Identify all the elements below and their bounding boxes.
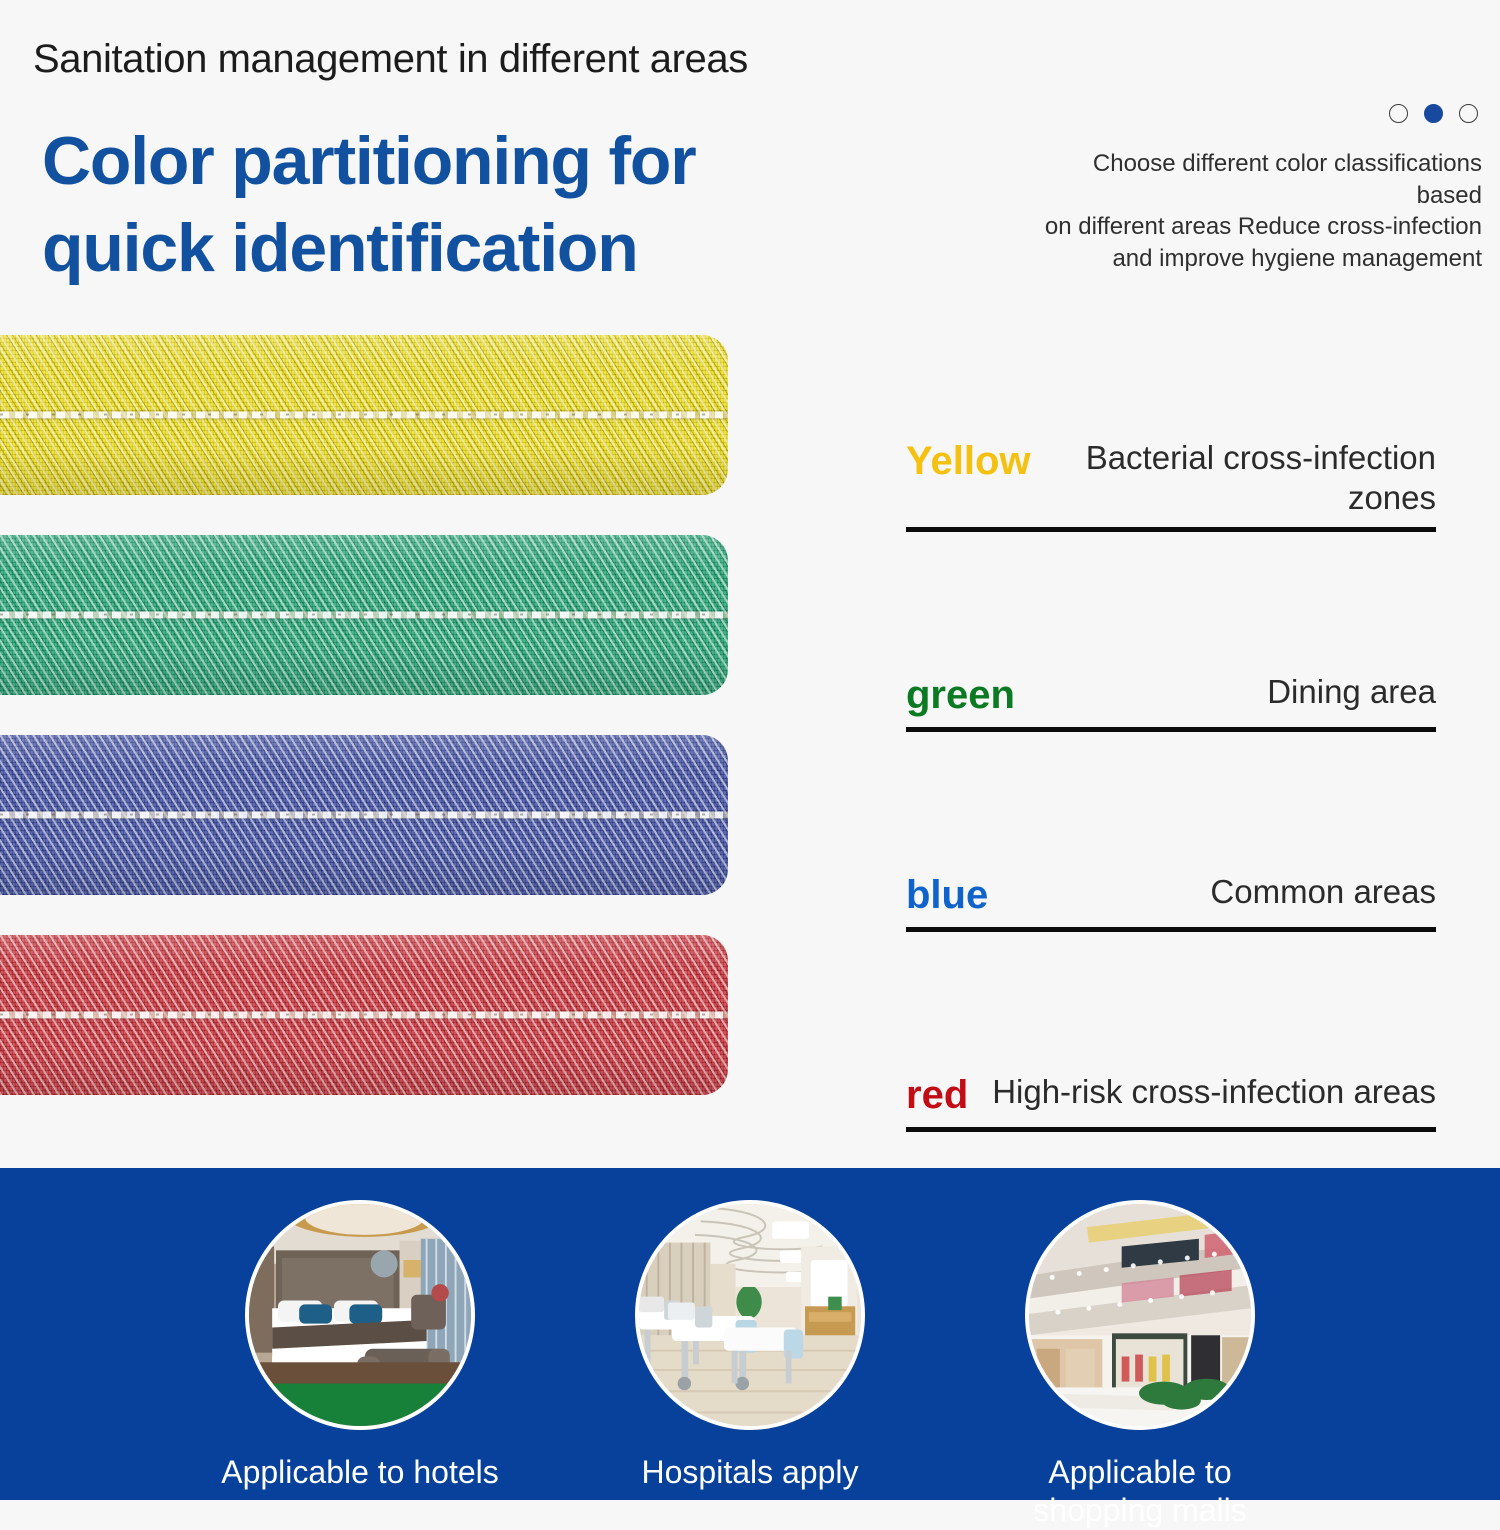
description-line-2: on different areas Reduce cross-infectio…	[1037, 211, 1482, 243]
legend-description: Dining area	[1029, 672, 1436, 712]
headline-line-2: quick identification	[42, 205, 872, 292]
legend-divider	[906, 727, 1436, 732]
legend-divider	[906, 927, 1436, 932]
stitch-seam	[0, 1012, 728, 1019]
legend-color-name: blue	[906, 872, 988, 918]
legend-description: Common areas	[1002, 872, 1436, 912]
stitch-seam	[0, 812, 728, 819]
green-fabric-bar	[0, 535, 728, 695]
caption-line-2: shopping malls	[1033, 1492, 1246, 1530]
caption-line-1: Hospitals apply	[642, 1454, 859, 1492]
card-caption: Applicable to shopping malls	[1033, 1454, 1246, 1530]
legend-description: Bacterial cross-infection zones	[1045, 438, 1437, 519]
caption-line-1: Applicable to	[1033, 1454, 1246, 1492]
fabric-swatch-list	[0, 335, 730, 1135]
hospital-ward-photo	[635, 1200, 865, 1430]
legend-color-name: Yellow	[906, 438, 1031, 484]
poster-root: Sanitation management in different areas…	[0, 0, 1500, 1500]
card-caption: Applicable to hotels	[221, 1454, 499, 1492]
blue-fabric-bar	[0, 735, 728, 895]
legend-divider	[906, 1127, 1436, 1132]
legend-row-blue: blue Common areas	[906, 752, 1436, 952]
application-card-hospitals: Hospitals apply	[610, 1200, 890, 1492]
pagination-dots[interactable]	[1389, 104, 1478, 123]
legend-description: High-risk cross-infection areas	[982, 1072, 1436, 1112]
pagination-dot-2-active[interactable]	[1424, 104, 1443, 123]
pagination-dot-1[interactable]	[1389, 104, 1408, 123]
application-band: Applicable to hotels	[0, 1168, 1500, 1500]
legend-color-name: red	[906, 1072, 968, 1118]
application-card-malls: Applicable to shopping malls	[1000, 1200, 1280, 1530]
legend-row-yellow: Yellow Bacterial cross-infection zones	[906, 352, 1436, 552]
eyebrow-text: Sanitation management in different areas	[33, 38, 748, 80]
description-text: Choose different color classifications b…	[1037, 148, 1482, 275]
legend-color-name: green	[906, 672, 1015, 718]
hotel-room-photo	[245, 1200, 475, 1430]
stitch-seam	[0, 412, 728, 419]
description-line-3: and improve hygiene management	[1037, 243, 1482, 275]
shopping-mall-photo	[1025, 1200, 1255, 1430]
yellow-fabric-bar	[0, 335, 728, 495]
pagination-dot-3[interactable]	[1459, 104, 1478, 123]
card-caption: Hospitals apply	[642, 1454, 859, 1492]
caption-line-1: Applicable to hotels	[221, 1454, 499, 1492]
legend-row-green: green Dining area	[906, 552, 1436, 752]
legend-divider	[906, 527, 1436, 532]
application-card-hotels: Applicable to hotels	[220, 1200, 500, 1492]
color-legend: Yellow Bacterial cross-infection zones g…	[906, 352, 1436, 1152]
red-fabric-bar	[0, 935, 728, 1095]
application-card-list: Applicable to hotels	[0, 1200, 1500, 1530]
stitch-seam	[0, 612, 728, 619]
page-title: Color partitioning for quick identificat…	[42, 118, 872, 292]
legend-row-red: red High-risk cross-infection areas	[906, 952, 1436, 1152]
description-line-1: Choose different color classifications b…	[1037, 148, 1482, 211]
headline-line-1: Color partitioning for	[42, 118, 872, 205]
